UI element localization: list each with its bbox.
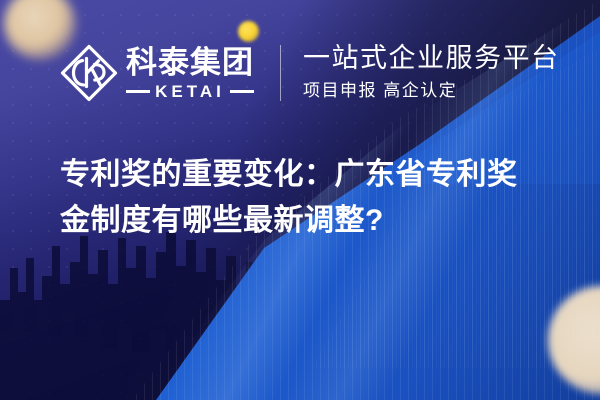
promo-banner: 科泰集团 KETAI 一站式企业服务平台 项目申报 高企认定 专利奖的重要变化：… [0,0,600,400]
slogan-block: 一站式企业服务平台 项目申报 高企认定 [303,44,560,101]
ketai-diamond-kp-logo-icon [58,42,120,104]
slogan-sub: 项目申报 高企认定 [303,81,560,101]
brand-name-cn: 科泰集团 [126,47,254,78]
wordmark-rule-left [126,90,150,93]
brand-name-en-row: KETAI [126,83,254,100]
brand-header: 科泰集团 KETAI 一站式企业服务平台 项目申报 高企认定 [58,42,560,104]
wordmark-rule-right [230,90,254,93]
slogan-main: 一站式企业服务平台 [303,44,560,74]
brand-name-en: KETAI [155,83,225,100]
headline-line-2: 金制度有哪些最新调整? [60,198,546,244]
headline: 专利奖的重要变化：广东省专利奖 金制度有哪些最新调整? [60,152,546,244]
brand-wordmark: 科泰集团 KETAI [126,47,254,100]
vertical-divider [280,45,281,101]
bokeh-gold-dot-icon [238,21,259,42]
headline-line-1: 专利奖的重要变化：广东省专利奖 [60,152,546,198]
